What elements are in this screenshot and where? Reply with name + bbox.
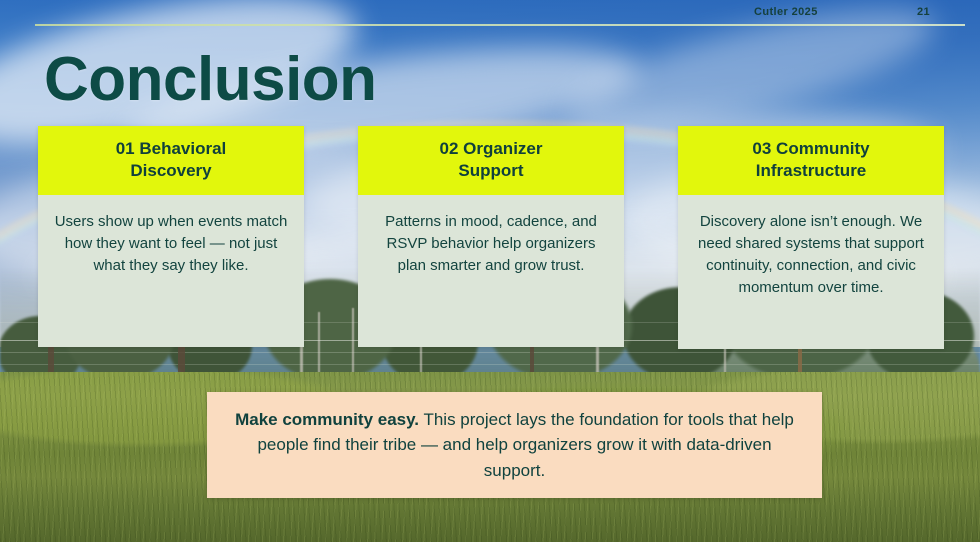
header-attribution: Cutler 2025 [754,6,818,18]
card-header: 02 Organizer Support [358,126,624,195]
card-heading-line1: 02 Organizer [368,138,614,160]
card-heading-line2: Support [368,160,614,182]
card-heading-line2: Discovery [48,160,294,182]
header-divider [35,24,965,26]
fence-wire [0,364,980,365]
card-behavioral-discovery: 01 Behavioral Discovery Users show up wh… [38,126,304,347]
card-organizer-support: 02 Organizer Support Patterns in mood, c… [358,126,624,347]
card-body-text: Discovery alone isn’t enough. We need sh… [678,195,944,349]
card-community-infrastructure: 03 Community Infrastructure Discovery al… [678,126,944,349]
card-heading-line2: Infrastructure [688,160,934,182]
slide: Cutler 2025 21 Conclusion 01 Behavioral … [0,0,980,542]
callout-text: Make community easy. This project lays t… [233,407,796,482]
card-body-text: Users show up when events match how they… [38,195,304,347]
page-title: Conclusion [44,44,377,115]
page-number: 21 [917,6,930,18]
callout-box: Make community easy. This project lays t… [207,392,822,498]
card-header: 01 Behavioral Discovery [38,126,304,195]
fence-wire [0,352,980,353]
card-body-text: Patterns in mood, cadence, and RSVP beha… [358,195,624,347]
card-heading-line1: 03 Community [688,138,934,160]
callout-lead: Make community easy. [235,410,419,429]
card-header: 03 Community Infrastructure [678,126,944,195]
card-heading-line1: 01 Behavioral [48,138,294,160]
